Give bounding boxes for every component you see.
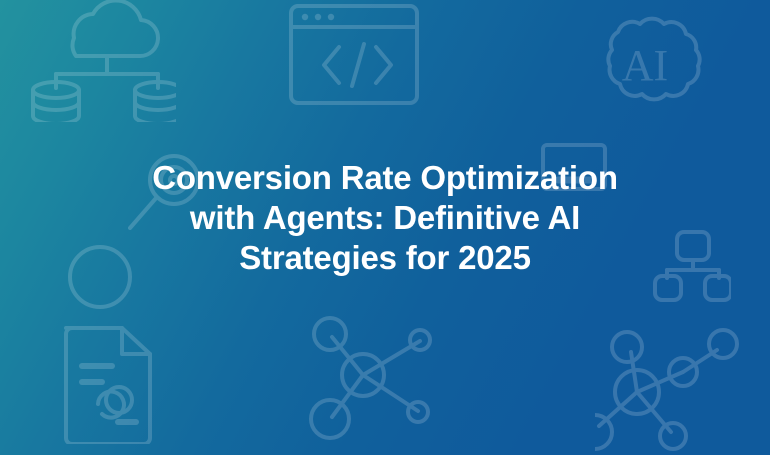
svg-text:AI: AI [622, 41, 668, 90]
network-nodes-icon [595, 320, 745, 455]
banner-title: Conversion Rate Optimization with Agents… [0, 158, 770, 278]
blog-hero-banner: AI [0, 0, 770, 455]
network-nodes-icon [294, 305, 432, 445]
title-line-1: Conversion Rate Optimization [40, 158, 730, 198]
document-notes-icon [56, 322, 158, 444]
title-line-2: with Agents: Definitive AI [40, 198, 730, 238]
ai-brain-icon: AI [578, 8, 713, 120]
title-line-3: Strategies for 2025 [40, 238, 730, 278]
code-window-icon [287, 2, 421, 107]
cloud-database-icon [26, 0, 176, 122]
